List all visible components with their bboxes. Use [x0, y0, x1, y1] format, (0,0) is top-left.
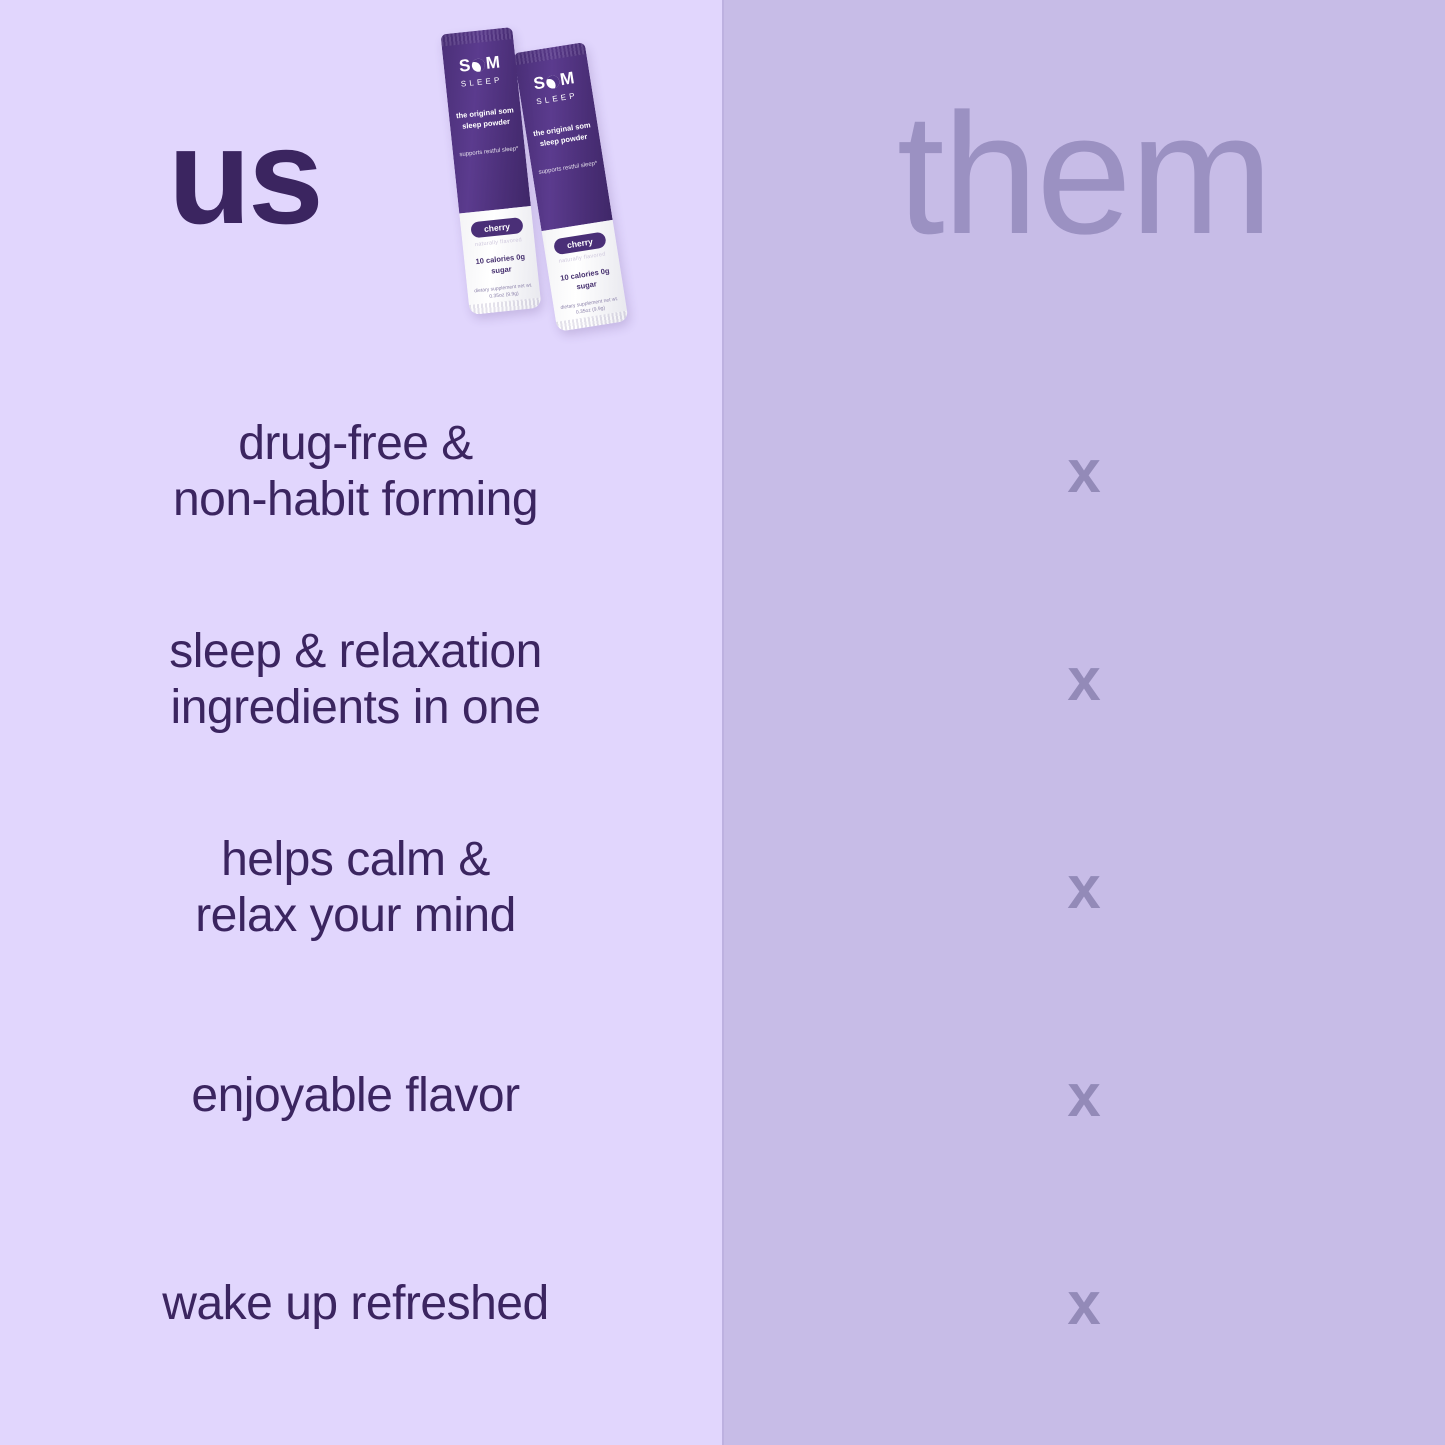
packet-supports-claim: supports restful sleep*	[538, 159, 598, 177]
brand-subtitle: SLEEP	[460, 75, 503, 88]
brand-logo: S M	[532, 68, 576, 94]
heading-us: us	[168, 108, 321, 244]
feature-label-sleep-relaxation: sleep & relaxation ingredients in one	[0, 624, 723, 736]
product-image-som-sleep-packets: S M SLEEP the original som sleep powder …	[425, 18, 655, 348]
packet-lower-section: cherry naturally flavored 10 calories 0g…	[542, 220, 629, 332]
them-mark-wake-refreshed: x	[723, 1274, 1445, 1334]
feature-label-helps-calm: helps calm & relax your mind	[0, 832, 723, 944]
heading-them: them	[723, 88, 1445, 260]
brand-letter-m: M	[485, 52, 502, 73]
brand-logo: S M	[458, 52, 501, 76]
flavor-note: naturally flavored	[475, 237, 523, 248]
packet-crimp-icon	[513, 42, 586, 65]
them-mark-enjoyable-flavor: x	[723, 1066, 1445, 1126]
them-mark-sleep-relaxation: x	[723, 650, 1445, 710]
packet-description: the original som sleep powder	[526, 119, 601, 152]
nutrition-facts: 10 calories 0g sugar	[549, 264, 624, 297]
flavor-badge: cherry	[470, 217, 523, 238]
brand-letter-s: S	[532, 73, 547, 95]
packet-supports-claim: supports restful sleep*	[459, 145, 519, 160]
feature-label-drug-free: drug-free & non-habit forming	[0, 416, 723, 528]
them-mark-drug-free: x	[723, 442, 1445, 502]
packet-lower-section: cherry naturally flavored 10 calories 0g…	[459, 206, 541, 315]
comparison-board: us S M SLEEP the original som sleep powd…	[0, 0, 1445, 1445]
packet-description: the original som sleep powder	[449, 105, 523, 134]
brand-letter-s: S	[458, 56, 472, 77]
column-divider	[722, 0, 724, 1445]
feature-label-enjoyable-flavor: enjoyable flavor	[0, 1068, 723, 1124]
feature-label-wake-refreshed: wake up refreshed	[0, 1276, 723, 1332]
brand-letter-m: M	[559, 68, 577, 90]
them-mark-helps-calm: x	[723, 858, 1445, 918]
packet-crimp-icon	[440, 27, 513, 46]
nutrition-facts: 10 calories 0g sugar	[464, 251, 538, 280]
